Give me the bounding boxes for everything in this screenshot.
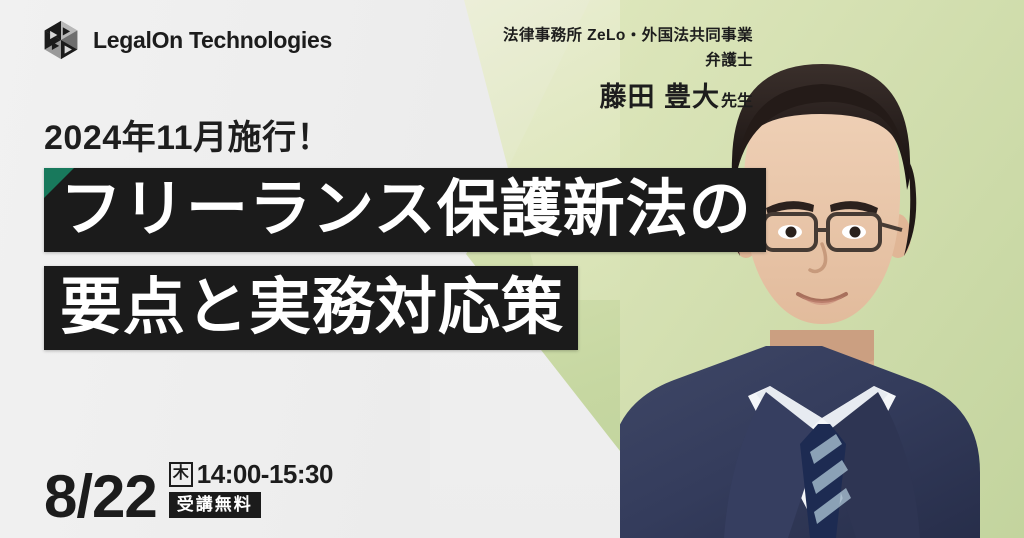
- speaker-firm: 法律事務所 ZeLo・外国法共同事業: [408, 25, 753, 47]
- schedule-block: 8/22 木 14:00-15:30 受講無料: [44, 461, 333, 524]
- headline-line-2: 要点と実務対応策: [60, 277, 564, 339]
- price-badge: 受講無料: [169, 492, 261, 518]
- webinar-banner: LegalOn Technologies 法律事務所 ZeLo・外国法共同事業 …: [0, 0, 1024, 538]
- schedule-details: 木 14:00-15:30 受講無料: [169, 461, 333, 524]
- brand-name: LegalOn Technologies: [93, 27, 332, 54]
- headline-line-1: フリーランス保護新法の: [60, 179, 752, 241]
- speaker-info: 法律事務所 ZeLo・外国法共同事業 弁護士 藤田 豊大先生: [408, 25, 753, 117]
- schedule-date: 8/22: [44, 469, 157, 524]
- headline-band-1: フリーランス保護新法の: [44, 168, 766, 252]
- schedule-day-of-week: 木: [169, 462, 193, 487]
- speaker-role: 弁護士: [408, 50, 753, 72]
- brand-logo[interactable]: LegalOn Technologies: [42, 20, 332, 60]
- schedule-time-row: 木 14:00-15:30: [169, 461, 333, 487]
- headline-kicker: 2024年11月施行！: [44, 110, 331, 159]
- speaker-name: 藤田 豊大: [599, 78, 720, 117]
- speaker-honorific: 先生: [721, 90, 753, 113]
- speaker-name-row: 藤田 豊大先生: [408, 78, 753, 117]
- headline-band-2: 要点と実務対応策: [44, 266, 578, 350]
- legalon-hexagon-icon: [42, 20, 80, 60]
- schedule-time: 14:00-15:30: [197, 461, 333, 487]
